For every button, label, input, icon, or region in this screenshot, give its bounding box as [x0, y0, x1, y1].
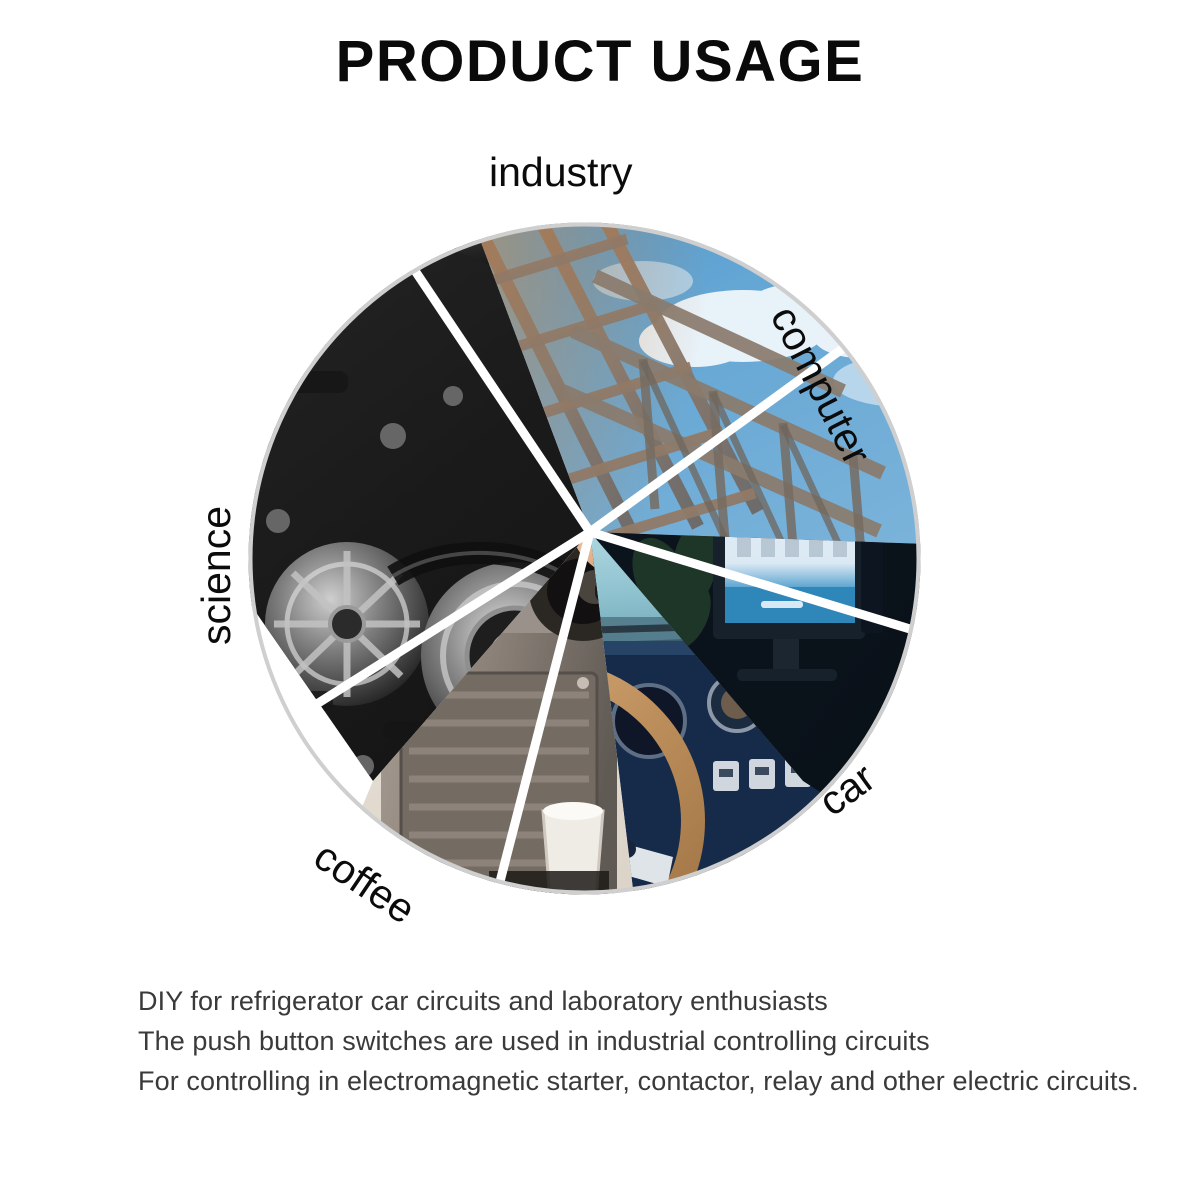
pie-label-industry: industry	[489, 152, 633, 193]
description-line-1: DIY for refrigerator car circuits and la…	[138, 982, 1168, 1022]
description-line-2: The push button switches are used in ind…	[138, 1022, 1168, 1062]
description-block: DIY for refrigerator car circuits and la…	[138, 982, 1168, 1102]
pie-label-science: science	[196, 506, 237, 645]
description-line-3: For controlling in electromagnetic start…	[138, 1062, 1168, 1102]
